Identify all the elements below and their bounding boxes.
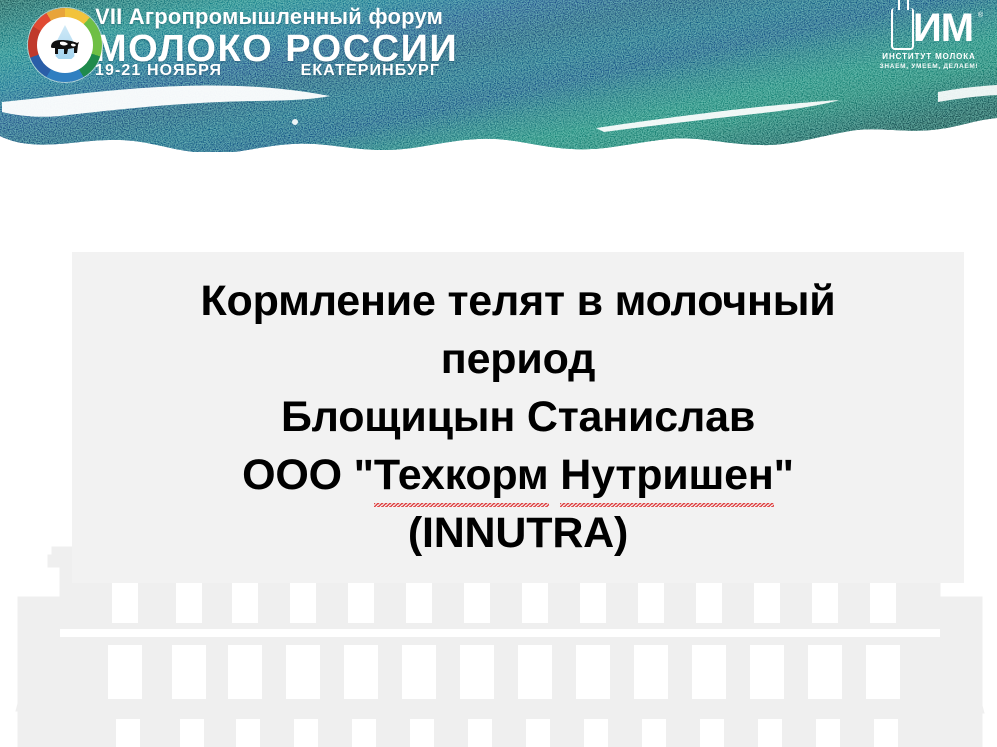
institute-name-label: ИНСТИТУТ МОЛОКА xyxy=(873,52,985,62)
company-word-tehkorm: Техкорм xyxy=(374,446,549,504)
registered-trademark-icon: ® xyxy=(978,12,983,19)
milk-bottle-icon xyxy=(891,8,914,50)
company-word-nutrishen: Нутришен xyxy=(560,446,773,504)
forum-round-logo xyxy=(28,8,102,82)
institute-tagline-label: ЗНАЕМ, УМЕЕМ, ДЕЛАЕМ! xyxy=(873,62,985,71)
paint-speck xyxy=(292,119,298,125)
forum-edition-label: VII Агропромышленный форум xyxy=(95,4,435,30)
logo-inner-disc xyxy=(37,17,93,73)
presentation-slide: VII Агропромышленный форум МОЛОКО РОССИИ… xyxy=(0,0,997,747)
banner-headline: VII Агропромышленный форум МОЛОКО РОССИИ xyxy=(95,4,435,70)
title-line-1: Кормление телят в молочный xyxy=(72,272,964,330)
title-line-2: период xyxy=(72,330,964,388)
logo-white-band xyxy=(43,59,87,69)
company-form-prefix: ООО " xyxy=(242,451,374,499)
institut-moloka-logo: ИМ ® ИНСТИТУТ МОЛОКА ЗНАЕМ, УМЕЕМ, ДЕЛАЕ… xyxy=(873,6,985,78)
institute-mark: ИМ ® xyxy=(873,6,985,52)
forum-dates-label: 19-21 НОЯБРЯ xyxy=(95,62,222,80)
title-line-5: (INNUTRA) xyxy=(72,504,964,562)
company-quote-suffix: " xyxy=(774,451,794,499)
forum-city-label: ЕКАТЕРИНБУРГ xyxy=(301,62,440,80)
title-line-4: ООО "Техкорм Нутришен" xyxy=(72,446,964,504)
institute-monogram: ИМ xyxy=(913,6,973,50)
forum-banner: VII Агропромышленный форум МОЛОКО РОССИИ… xyxy=(0,0,997,152)
cow-icon xyxy=(47,33,83,57)
title-line-3: Блощицын Станислав xyxy=(72,388,964,446)
banner-subline: 19-21 НОЯБРЯ ЕКАТЕРИНБУРГ xyxy=(95,62,440,80)
slide-title-block: Кормление телят в молочный период Блощиц… xyxy=(72,272,964,562)
company-word-space xyxy=(549,451,561,499)
